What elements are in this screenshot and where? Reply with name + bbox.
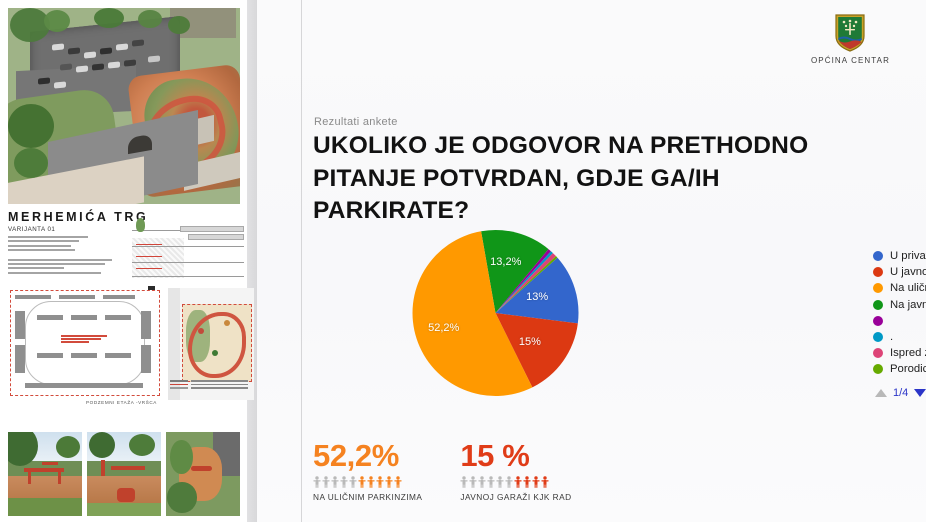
legend-color-dot (873, 364, 883, 374)
pie-slices[interactable] (403, 228, 588, 398)
legend-item-label: Na uličnim parkinzima duž ulica H. Re… (890, 282, 926, 294)
legend-item-label: Na javnom parkingu na Merhemića trgu (890, 299, 926, 311)
person-figure-icon (394, 476, 402, 488)
page-title: UKOLIKO JE ODGOVOR NA PRETHODNO PITANJE … (313, 130, 873, 228)
person-figure-icon (460, 476, 468, 488)
stat-icon-row (313, 476, 422, 488)
triangle-up-icon[interactable] (875, 389, 887, 397)
underground-garage-plan (10, 290, 160, 396)
person-figure-icon (487, 476, 495, 488)
slide-divider-rule (301, 0, 302, 522)
legend-color-dot (873, 283, 883, 293)
stat-value: 52,2% (313, 440, 422, 471)
section-elevation-drawing (132, 222, 244, 280)
legend-color-dot (873, 267, 883, 277)
person-figure-icon (514, 476, 522, 488)
legend-pager[interactable]: 1/4 (873, 387, 926, 399)
stat-caption: JAVNOJ GARAŽI KJK RAD (460, 492, 571, 502)
opcina-centar-crest-icon (834, 14, 866, 52)
document-subtitle: VARIJANTA 01 (8, 226, 55, 233)
legend-item[interactable] (873, 313, 926, 329)
legend-item-label: Porodicni automobil parkiramo u ul. D… (890, 363, 926, 375)
pie-slice-label: 13,2% (490, 256, 521, 268)
legend-item-label: . (890, 331, 893, 343)
legend-item[interactable]: Porodicni automobil parkiramo u ul. D… (873, 361, 926, 377)
photo-thumbnail (87, 432, 161, 516)
legend-color-dot (873, 251, 883, 261)
plan-caption: PODZEMNI ETAŽA -VRŠCA (86, 400, 157, 405)
person-figure-icon (313, 476, 321, 488)
person-figure-icon (532, 476, 540, 488)
stat-caption: NA ULIČNIM PARKINZIMA (313, 492, 422, 502)
document-preview-panel[interactable]: MERHEMIĆA TRG VARIJANTA 01 (0, 0, 257, 522)
triangle-down-icon[interactable] (914, 389, 926, 397)
slide-eyebrow: Rezultati ankete (314, 116, 398, 128)
person-figure-icon (505, 476, 513, 488)
stat-value: 15 % (460, 440, 571, 471)
legend-color-dot (873, 348, 883, 358)
photo-thumbnail-row (8, 432, 240, 516)
legend-page-label: 1/4 (893, 387, 908, 399)
photo-thumbnail (8, 432, 82, 516)
stat-block: 52,2% (313, 440, 422, 502)
brand-block: OPĆINA CENTAR (811, 14, 890, 65)
legend-item-label: U javnoj garaži KJKP Rad (890, 266, 926, 278)
legend-item[interactable]: U javnoj garaži KJKP Rad (873, 264, 926, 280)
brand-name: OPĆINA CENTAR (811, 56, 890, 65)
person-figure-icon (331, 476, 339, 488)
legend-item[interactable]: Ispred zgrade (873, 345, 926, 361)
legend-item-label: U privatnoj garaži (890, 250, 926, 262)
document-body-text (8, 236, 116, 276)
legend-item[interactable]: Na uličnim parkinzima duž ulica H. Re… (873, 280, 926, 296)
legend-color-dot (873, 300, 883, 310)
stat-block: 15 % (460, 440, 571, 502)
person-figure-icon (469, 476, 477, 488)
plan-legend (170, 380, 248, 391)
photo-thumbnail (166, 432, 240, 516)
person-figure-icon (478, 476, 486, 488)
person-figure-icon (496, 476, 504, 488)
stat-icon-row (460, 476, 571, 488)
legend-item[interactable]: U privatnoj garaži (873, 248, 926, 264)
person-figure-icon (340, 476, 348, 488)
legend-color-dot (873, 316, 883, 326)
person-figure-icon (367, 476, 375, 488)
person-figure-icon (322, 476, 330, 488)
key-figures: 52,2% (313, 440, 572, 502)
person-figure-icon (376, 476, 384, 488)
pie-chart[interactable]: 13,2%13%15%52,2% (313, 228, 913, 408)
legend-item-label: Ispred zgrade (890, 347, 926, 359)
document-sheet: MERHEMIĆA TRG VARIJANTA 01 (0, 0, 247, 522)
person-figure-icon (385, 476, 393, 488)
document-title: MERHEMIĆA TRG (8, 210, 148, 224)
pie-slice-label: 15% (519, 336, 541, 348)
presentation-slide: OPĆINA CENTAR Rezultati ankete UKOLIKO J… (257, 0, 926, 522)
legend-item[interactable]: . (873, 329, 926, 345)
person-figure-icon (358, 476, 366, 488)
person-figure-icon (349, 476, 357, 488)
slide-viewer: MERHEMIĆA TRG VARIJANTA 01 (0, 0, 926, 522)
person-figure-icon (523, 476, 531, 488)
person-figure-icon (541, 476, 549, 488)
legend-color-dot (873, 332, 883, 342)
pie-slice-label: 52,2% (428, 322, 459, 334)
pie-slice-label: 13% (526, 291, 548, 303)
legend-item[interactable]: Na javnom parkingu na Merhemića trgu (873, 297, 926, 313)
aerial-rendering-image (8, 8, 240, 204)
chart-legend[interactable]: U privatnoj garažiU javnoj garaži KJKP R… (873, 248, 926, 399)
pie-chart-canvas[interactable]: 13,2%13%15%52,2% (403, 228, 588, 398)
